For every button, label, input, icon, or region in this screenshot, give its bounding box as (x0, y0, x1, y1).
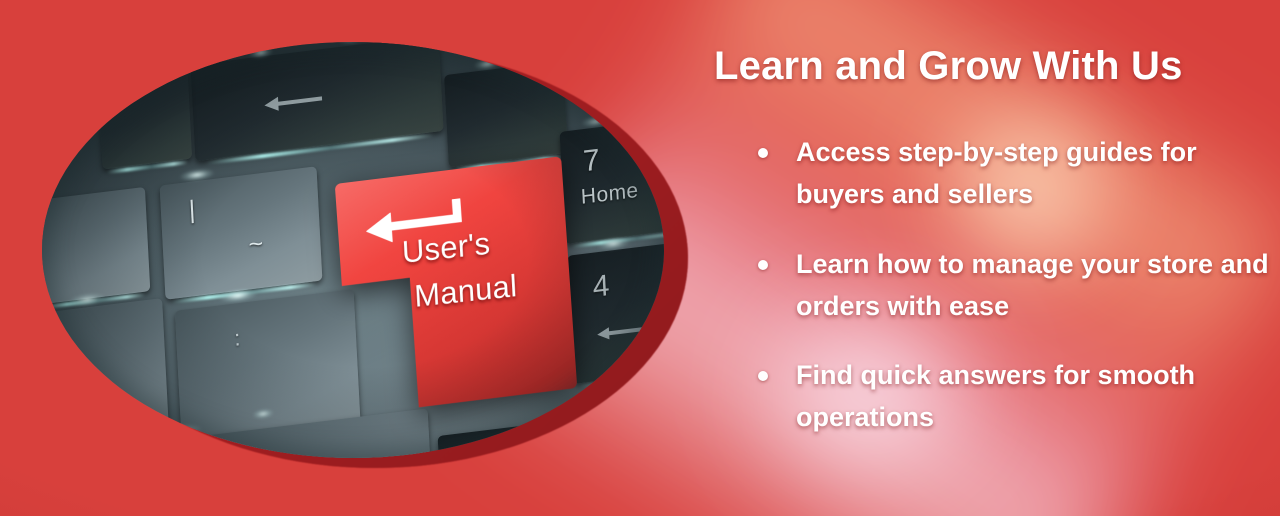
backspace-arrow-icon (262, 89, 326, 115)
bullet-text: Find quick answers for smooth operations (796, 355, 1276, 439)
key-grey-left-upper (42, 187, 150, 305)
enter-key-text: User's Manual (401, 213, 575, 321)
list-item: Find quick answers for smooth operations (746, 355, 1276, 439)
key-pipe-label: | (188, 195, 196, 225)
bullet-dot-icon (758, 260, 768, 270)
list-item: Learn how to manage your store and order… (746, 244, 1276, 328)
bullet-text: Learn how to manage your store and order… (796, 244, 1276, 328)
key-numpad-4: 4 (567, 240, 664, 384)
key-dark-upper-right (444, 61, 568, 168)
key-tilde-label: ~ (248, 229, 264, 260)
key-colon-label: : (234, 325, 241, 352)
numpad-left-arrow-icon (595, 320, 653, 343)
promo-banner: 7 Home 4 | ~ (0, 0, 1280, 516)
key-4-label: 4 (592, 269, 610, 305)
key-grey-left-lower (42, 298, 169, 448)
content-column: Learn and Grow With Us Access step-by-st… (706, 0, 1280, 516)
key-pipe-tilde: | ~ (160, 166, 323, 299)
users-manual-enter-key: User's Manual (335, 156, 578, 416)
hero-image-container: 7 Home 4 | ~ (0, 0, 720, 516)
feature-bullet-list: Access step-by-step guides for buyers an… (746, 132, 1276, 467)
key-7-label: 7 (582, 143, 600, 179)
bullet-text: Access step-by-step guides for buyers an… (796, 132, 1276, 216)
list-item: Access step-by-step guides for buyers an… (746, 132, 1276, 216)
key-dark-upper-left (98, 66, 192, 169)
key-numpad-7-home: 7 Home (560, 116, 664, 244)
bullet-dot-icon (758, 371, 768, 381)
enter-key-line1: User's (401, 226, 491, 270)
bullet-dot-icon (758, 148, 768, 158)
keyboard-photo-ellipse: 7 Home 4 | ~ (42, 42, 664, 458)
key-home-label: Home (580, 179, 639, 210)
page-title: Learn and Grow With Us (714, 44, 1274, 89)
